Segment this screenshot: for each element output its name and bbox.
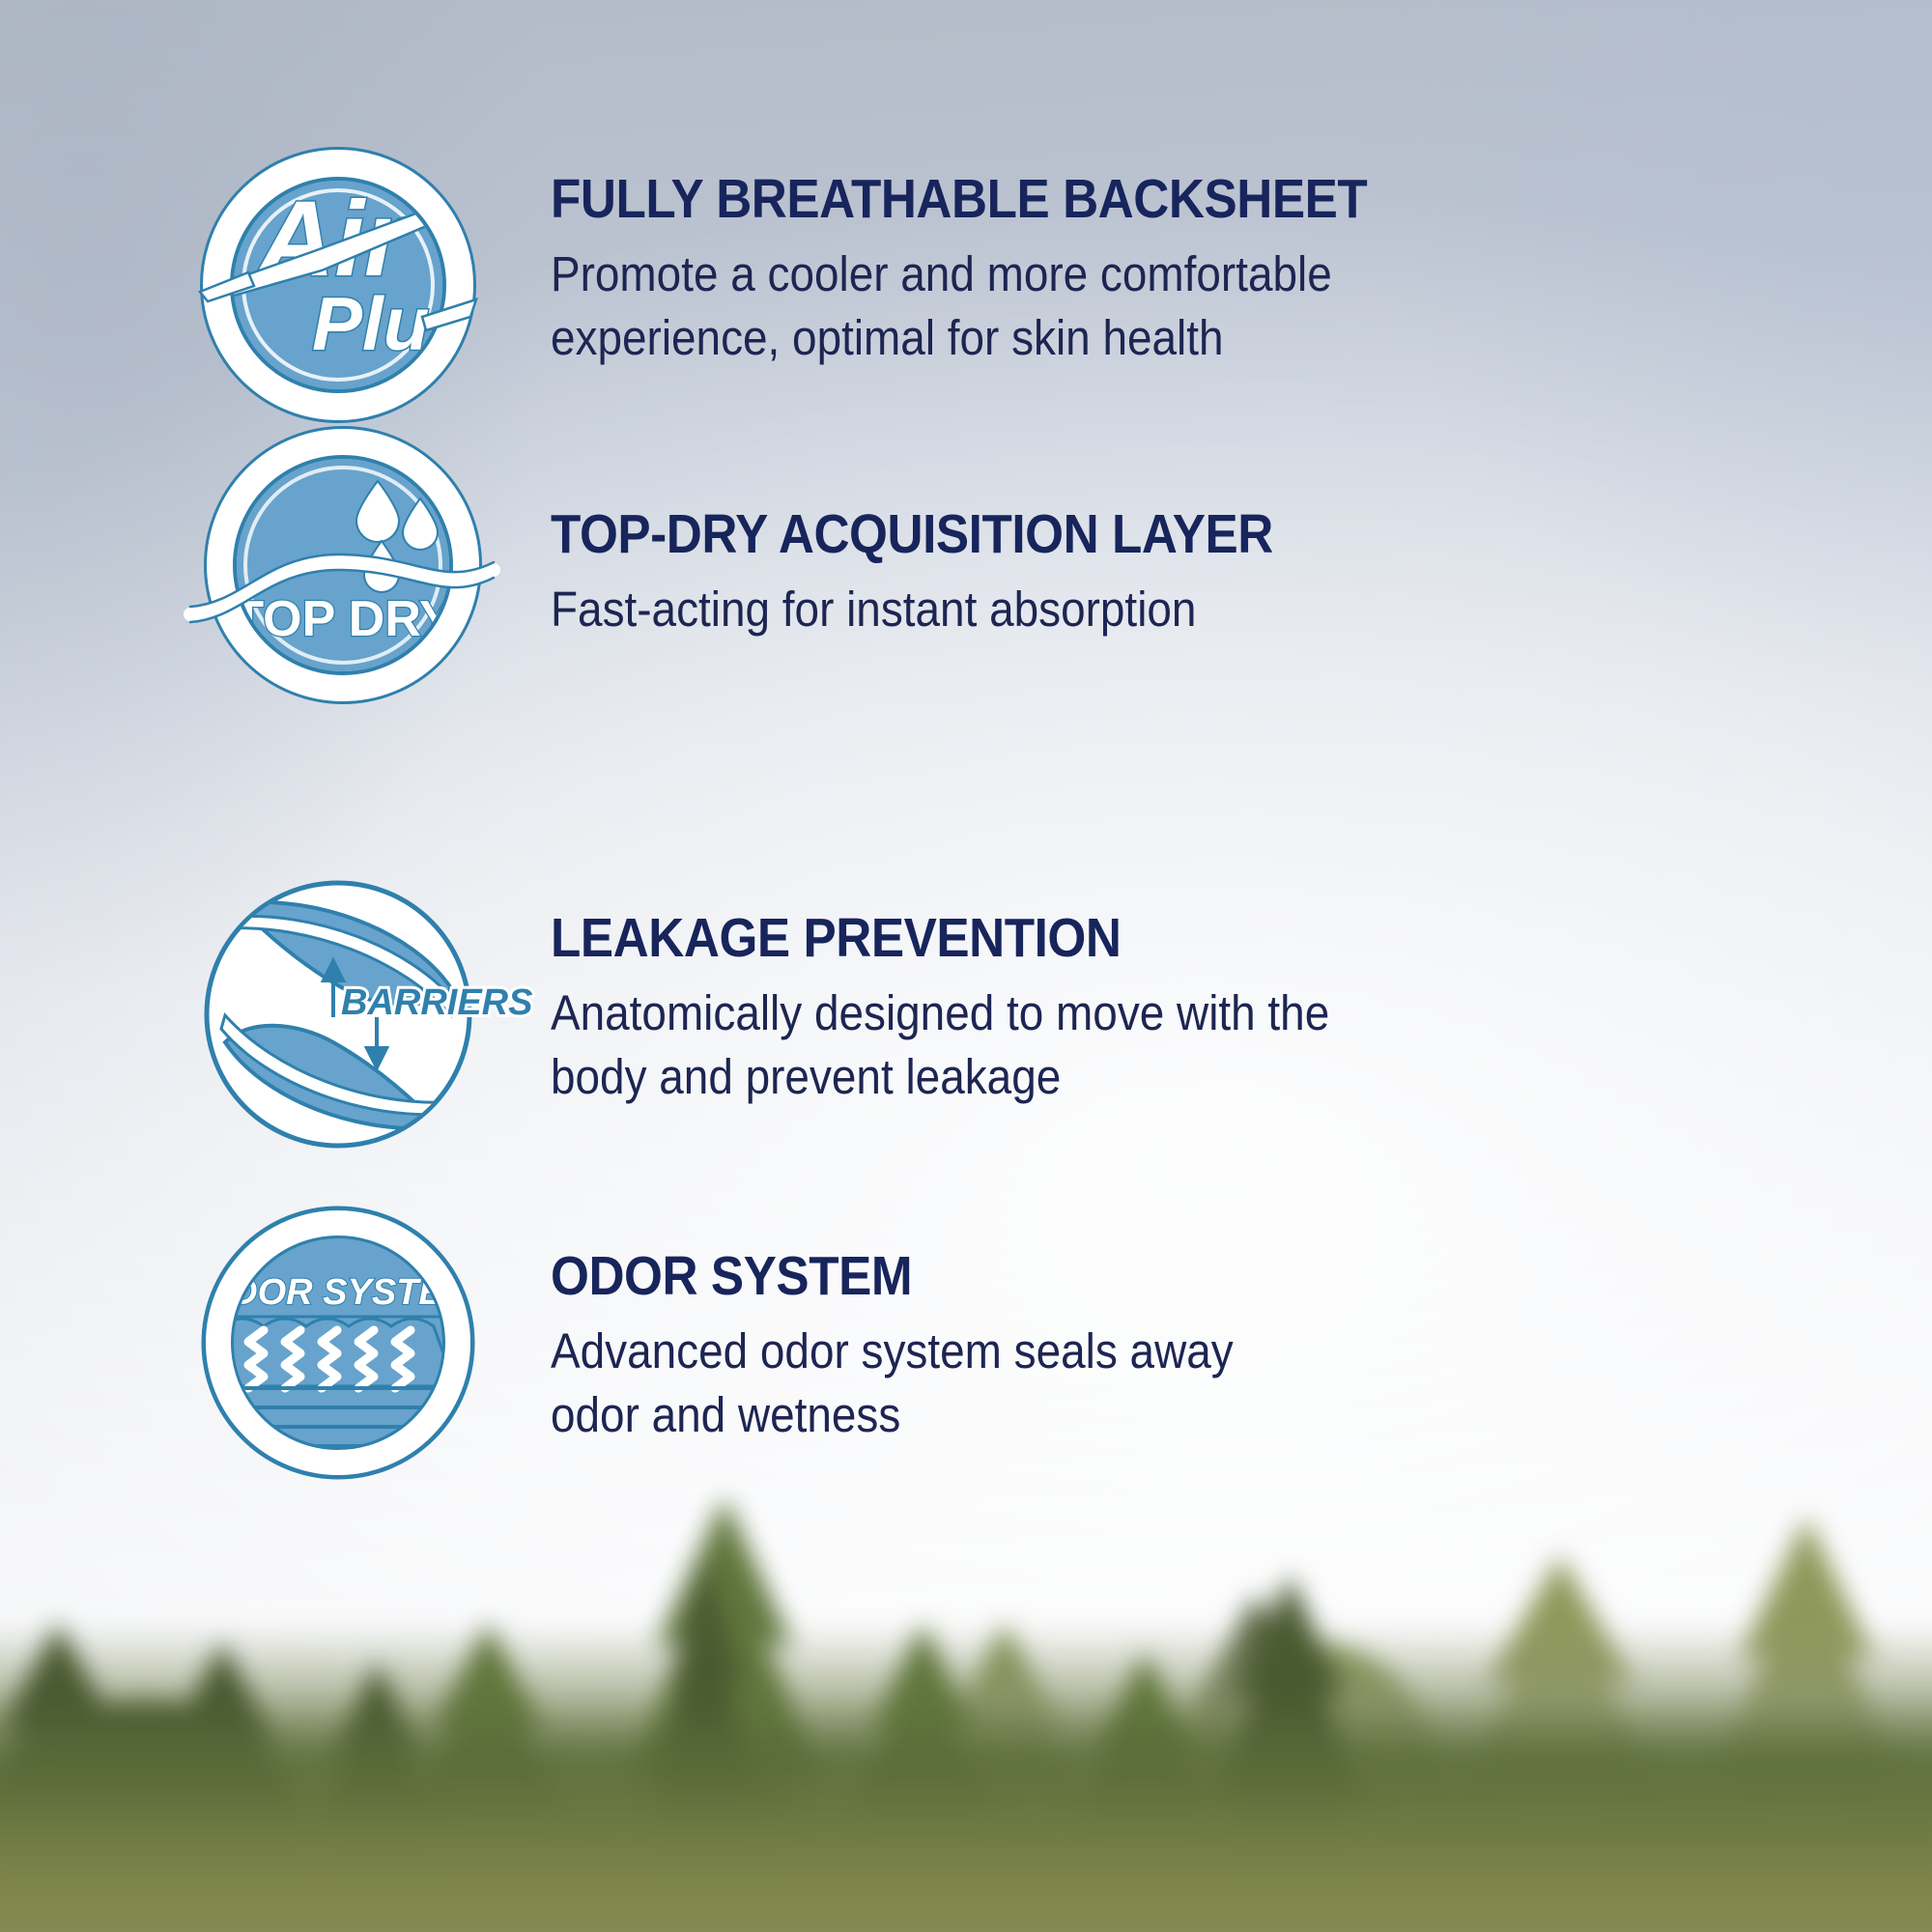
feature-body-line: Advanced odor system seals away	[551, 1320, 1712, 1383]
feature-body-line: odor and wetness	[551, 1383, 1712, 1447]
feature-item-air-plus: Air Plus FULLY BREATHABLE BACKSHEET Prom…	[198, 145, 1840, 425]
feature-body-barriers: Anatomically designed to move with the b…	[551, 981, 1712, 1110]
feature-heading-barriers: LEAKAGE PREVENTION	[551, 911, 1712, 966]
feature-body-line: body and prevent leakage	[551, 1045, 1712, 1109]
air-plus-icon: Air Plus	[198, 145, 478, 425]
feature-item-top-dry: TOP DRY TOP-DRY ACQUISITION LAYER Fast-a…	[198, 425, 1840, 705]
feature-body-line: Anatomically designed to move with the	[551, 981, 1712, 1045]
feature-body-air-plus: Promote a cooler and more comfortable ex…	[551, 242, 1712, 371]
feature-item-barriers: BARRIERS LEAKAGE PREVENTION Anatomically…	[198, 874, 1840, 1154]
feature-list: Air Plus FULLY BREATHABLE BACKSHEET Prom…	[0, 0, 1932, 1932]
top-dry-icon: TOP DRY	[198, 425, 488, 705]
feature-body-line: experience, optimal for skin health	[551, 306, 1712, 370]
feature-heading-top-dry: TOP-DRY ACQUISITION LAYER	[551, 507, 1712, 562]
feature-body-top-dry: Fast-acting for instant absorption	[551, 578, 1712, 641]
feature-heading-odor-system: ODOR SYSTEM	[551, 1249, 1712, 1304]
feature-text-barriers: LEAKAGE PREVENTION Anatomically designed…	[551, 874, 1840, 1110]
odor-system-icon: ODOR SYSTEM	[198, 1203, 478, 1483]
feature-body-line: Promote a cooler and more comfortable	[551, 242, 1712, 306]
barriers-label: BARRIERS	[341, 982, 532, 1023]
feature-text-top-dry: TOP-DRY ACQUISITION LAYER Fast-acting fo…	[551, 425, 1840, 641]
feature-text-air-plus: FULLY BREATHABLE BACKSHEET Promote a coo…	[551, 145, 1840, 371]
feature-heading-air-plus: FULLY BREATHABLE BACKSHEET	[551, 172, 1712, 227]
feature-body-line: Fast-acting for instant absorption	[551, 578, 1712, 641]
barriers-icon: BARRIERS	[198, 874, 478, 1154]
feature-text-odor-system: ODOR SYSTEM Advanced odor system seals a…	[551, 1203, 1840, 1448]
feature-body-odor-system: Advanced odor system seals away odor and…	[551, 1320, 1712, 1448]
feature-item-odor-system: ODOR SYSTEM	[198, 1203, 1840, 1483]
